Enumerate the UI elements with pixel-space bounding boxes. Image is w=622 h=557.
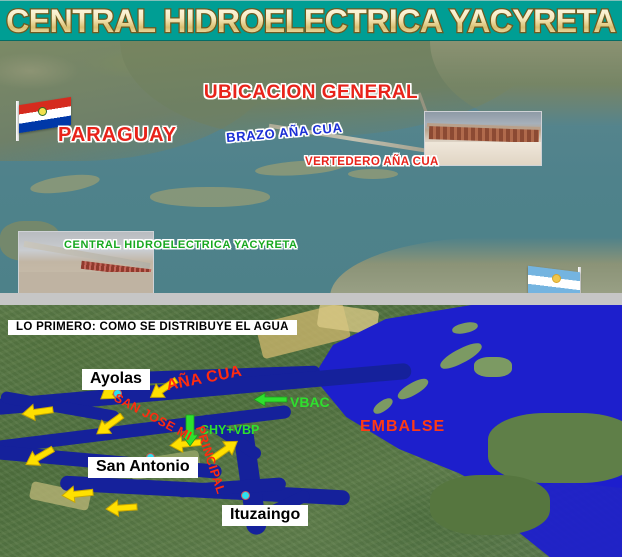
place-label-ayolas: Ayolas (82, 369, 150, 390)
city-marker-dot-ituzaingo (241, 491, 250, 500)
lower-map-panel: LO PRIMERO: COMO SE DISTRIBUYE EL AGUA A… (0, 305, 622, 557)
flag-emblem (38, 107, 47, 116)
argentina-flag-icon (528, 263, 590, 293)
spillway-gates (429, 126, 539, 143)
label-embalse: EMBALSE (360, 418, 445, 436)
flow-arrow-yellow-icon (92, 413, 126, 437)
slide-root: CENTRAL HIDROELECTRICA YACYRETA CENTRAL … (0, 0, 622, 557)
panel-separator (0, 293, 622, 305)
outflow-arrow-vbac-icon (252, 389, 288, 409)
label-paraguay: PARAGUAY (58, 124, 177, 147)
flow-arrow-yellow-icon (22, 445, 56, 469)
label-vbac: VBAC (290, 394, 330, 410)
spillway-foam-water (425, 142, 542, 166)
flow-arrow-yellow-icon (60, 483, 94, 505)
reservoir-island (430, 475, 550, 535)
place-label-san-antonio: San Antonio (88, 457, 198, 478)
upper-islet (348, 169, 398, 179)
flow-arrow-yellow-icon (104, 497, 138, 519)
reservoir-island (474, 357, 512, 377)
place-label-ituzaingo: Ituzaingo (222, 505, 308, 526)
dam-downstream-water (19, 272, 154, 293)
reservoir-island (488, 413, 622, 483)
lower-map-header: LO PRIMERO: COMO SE DISTRIBUYE EL AGUA (8, 320, 297, 335)
title-banner: CENTRAL HIDROELECTRICA YACYRETA CENTRAL … (0, 0, 622, 41)
flag-sun-emblem (552, 274, 561, 283)
label-vertedero-ana-cua: VERTEDERO AÑA CUA (305, 156, 439, 168)
upper-map-panel: UBICACION GENERAL PARAGUAY BRAZO AÑA CUA… (0, 41, 622, 293)
map-subtitle: UBICACION GENERAL (0, 82, 622, 104)
upper-islet (150, 187, 270, 207)
flow-arrow-yellow-icon (20, 401, 54, 423)
page-title: CENTRAL HIDROELECTRICA YACYRETA (0, 3, 622, 40)
label-central-hidroelectrica-yacyreta: CENTRAL HIDROELECTRICA YACYRETA (64, 239, 298, 251)
spillway-photo (424, 111, 542, 166)
